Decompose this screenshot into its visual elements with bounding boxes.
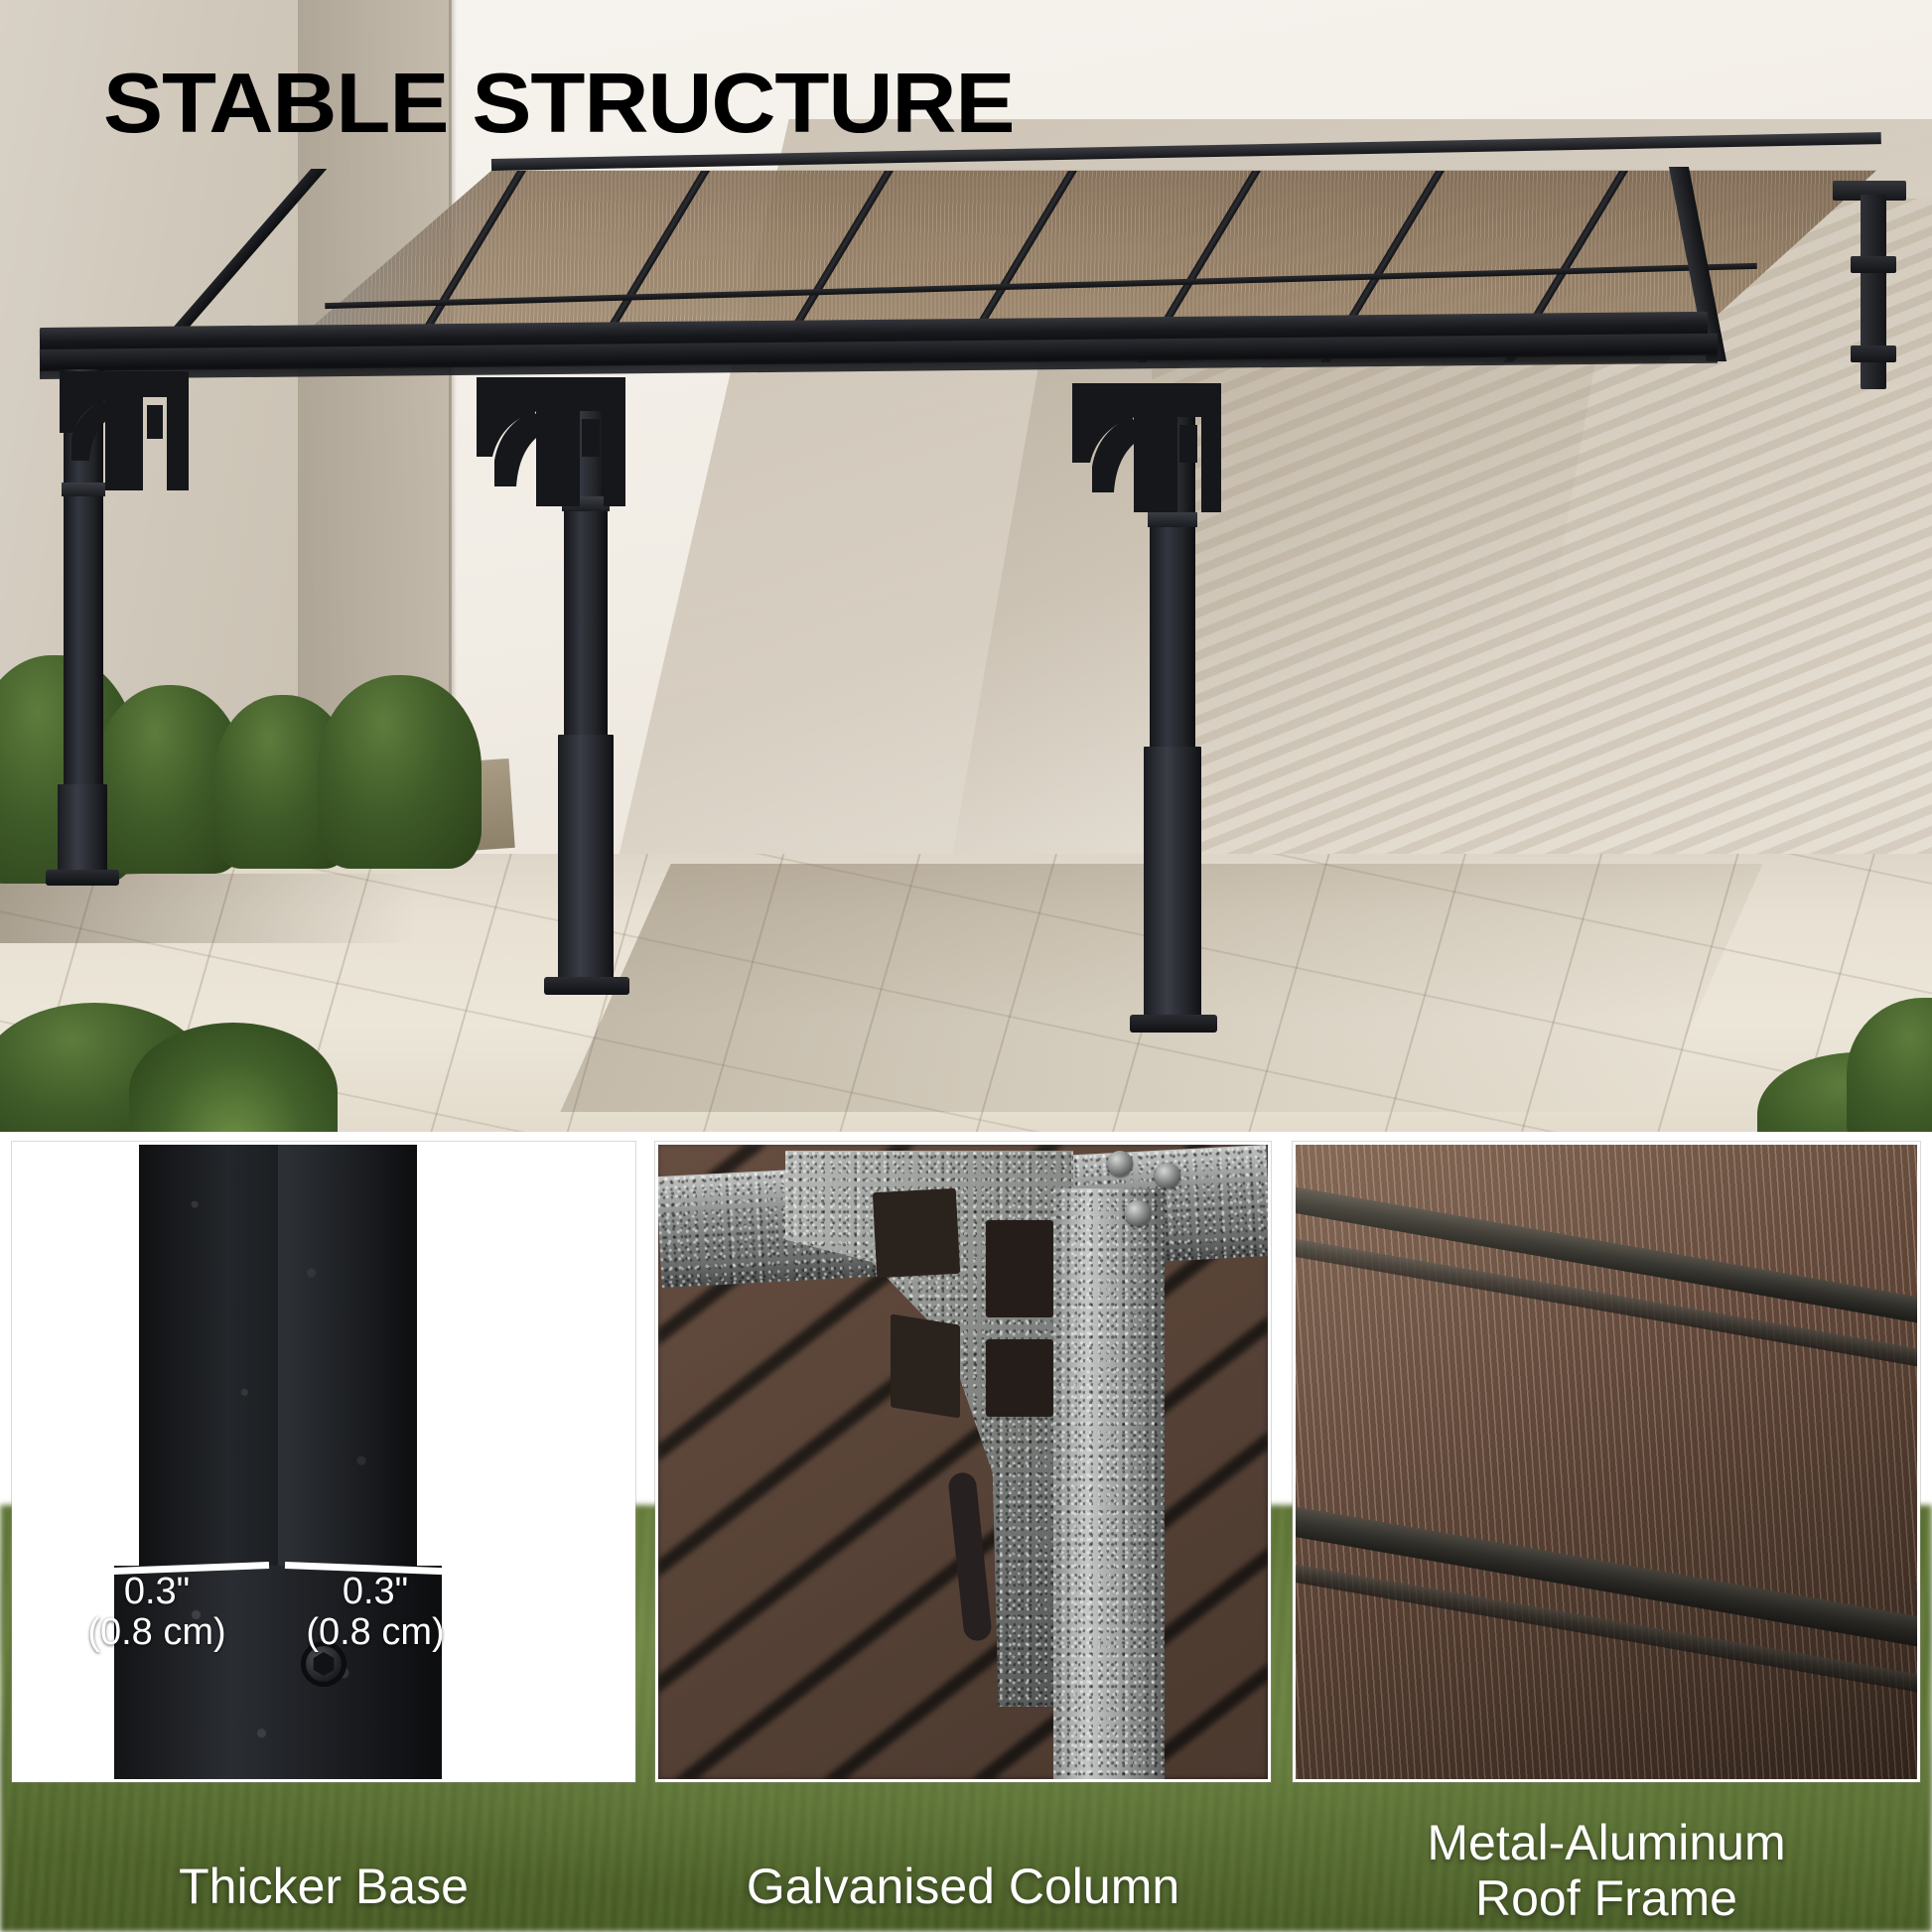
post-foot-plate [1130, 1015, 1217, 1033]
caption-text: Thicker Base [179, 1859, 469, 1914]
caption-thicker-base: Thicker Base [12, 1859, 635, 1914]
galvanised-column-photo [658, 1145, 1268, 1779]
feature-panels-section: 0.3" (0.8 cm) 0.3" (0.8 cm) [0, 1132, 1932, 1932]
roof-photo-lighting [1296, 1145, 1917, 1779]
rivet-icon [1107, 1151, 1133, 1176]
bracket-cutout [986, 1339, 1053, 1417]
feature-panel-galvanised-column [655, 1142, 1271, 1782]
dimension-imperial: 0.3" [261, 1572, 489, 1612]
rivet-icon [1125, 1200, 1151, 1226]
roof-frame-photo [1296, 1145, 1917, 1779]
post-collar [1148, 512, 1197, 527]
dimension-imperial: 0.3" [43, 1572, 271, 1612]
post-foot-plate [46, 870, 119, 886]
caption-text: Galvanised Column [747, 1859, 1179, 1914]
bracket-svg [60, 371, 189, 490]
post-column-highlight [278, 1145, 417, 1572]
page-title: STABLE STRUCTURE [103, 62, 1014, 146]
caption-roof-frame: Metal-Aluminum Roof Frame [1293, 1815, 1920, 1926]
thicker-base-photo: 0.3" (0.8 cm) 0.3" (0.8 cm) [15, 1145, 632, 1779]
decorative-corner-bracket [60, 371, 189, 490]
post-base-sleeve [1144, 747, 1201, 1023]
galvanised-texture [1053, 1188, 1165, 1779]
decorative-corner-bracket [1072, 383, 1221, 512]
dimension-callout-right: 0.3" (0.8 cm) [261, 1572, 489, 1653]
bracket-cutout [891, 1313, 960, 1418]
decorative-corner-bracket [477, 377, 625, 506]
caption-text-line2: Roof Frame [1293, 1870, 1920, 1926]
galvanised-column [1053, 1188, 1165, 1779]
bracket-svg [1072, 383, 1221, 512]
caption-galvanised-column: Galvanised Column [655, 1859, 1271, 1914]
caption-text-line1: Metal-Aluminum [1293, 1815, 1920, 1870]
wall-mount-tab [1851, 345, 1896, 362]
pergola-structure [0, 0, 1932, 1132]
post-foot-plate [544, 977, 629, 995]
bracket-cutout [873, 1188, 960, 1278]
feature-panel-thicker-base: 0.3" (0.8 cm) 0.3" (0.8 cm) [12, 1142, 635, 1782]
post-base-sleeve [558, 735, 614, 983]
rivet-icon [1155, 1163, 1180, 1188]
dimension-metric: (0.8 cm) [43, 1612, 271, 1653]
dimension-metric: (0.8 cm) [261, 1612, 489, 1653]
dimension-callout-left: 0.3" (0.8 cm) [43, 1572, 271, 1653]
feature-panel-roof-frame [1293, 1142, 1920, 1782]
post-base-sleeve [58, 784, 107, 876]
bracket-svg [477, 377, 625, 506]
wall-mount-tab [1851, 256, 1896, 273]
hero-product-photo: STABLE STRUCTURE [0, 0, 1932, 1132]
bracket-cutout [986, 1220, 1053, 1317]
